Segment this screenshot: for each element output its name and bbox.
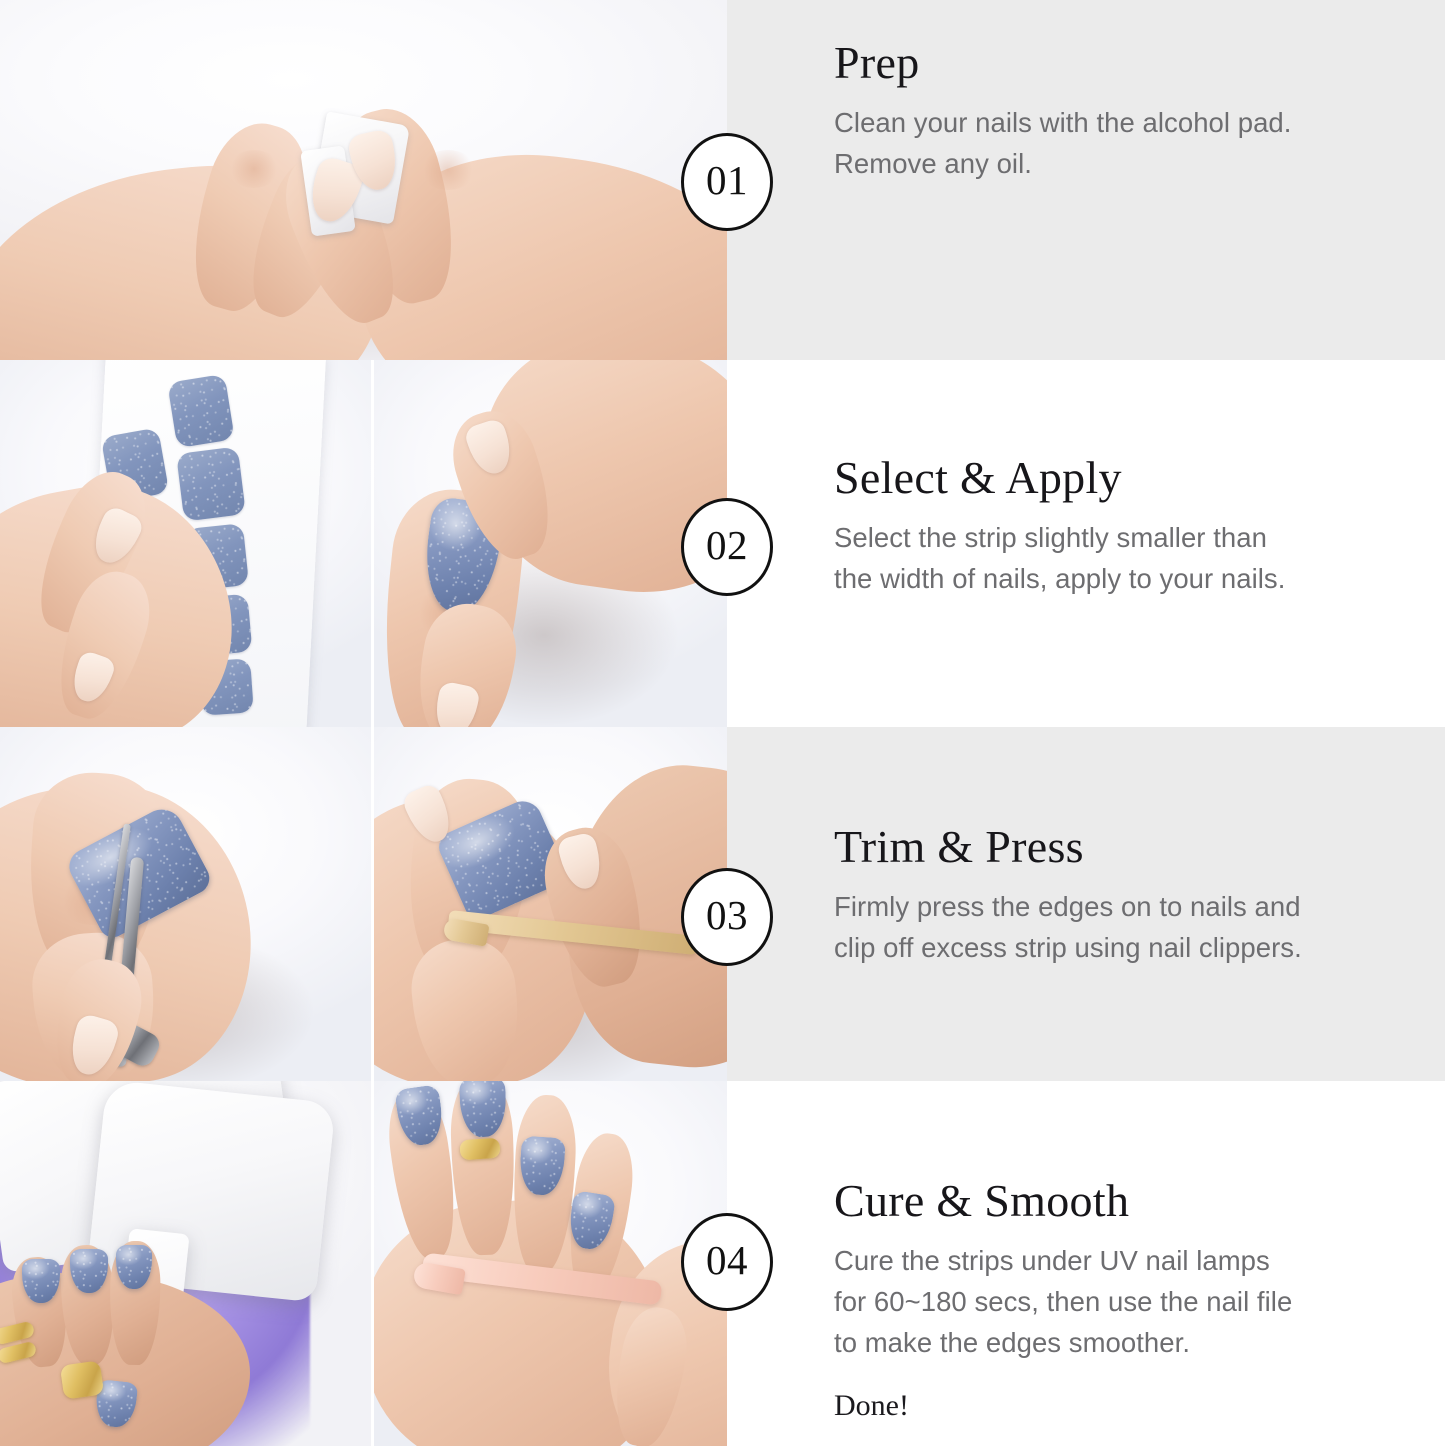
step-04-title: Cure & Smooth <box>834 1177 1445 1225</box>
step-02-text-panel: Select & Apply Select the strip slightly… <box>727 360 1445 727</box>
step-03-text-panel: Trim & Press Firmly press the edges on t… <box>727 727 1445 1081</box>
step-row-01: Prep Clean your nails with the alcohol p… <box>0 0 1445 360</box>
step-03-description-line-2: clip off excess strip using nail clipper… <box>834 928 1445 969</box>
step-02-number: 02 <box>706 525 748 569</box>
step-03-photo-press <box>374 727 727 1081</box>
step-04-description: Cure the strips under UV nail lamps for … <box>834 1241 1445 1363</box>
step-02-title: Select & Apply <box>834 454 1434 502</box>
step-03-description-line-1: Firmly press the edges on to nails and <box>834 887 1445 928</box>
step-number-badge-04: 04 <box>681 1213 773 1311</box>
step-04-photo-nail-file <box>374 1081 727 1446</box>
step-04-photo-uv-lamp <box>0 1081 371 1446</box>
step-03-description: Firmly press the edges on to nails and c… <box>834 887 1445 968</box>
step-03-title: Trim & Press <box>834 823 1445 871</box>
step-row-04: Cure & Smooth Cure the strips under UV n… <box>0 1081 1445 1446</box>
step-number-badge-01: 01 <box>681 133 773 231</box>
step-01-title: Prep <box>834 39 1414 87</box>
step-row-02: Select & Apply Select the strip slightly… <box>0 360 1445 727</box>
step-01-description-line-1: Clean your nails with the alcohol pad. <box>834 103 1414 144</box>
step-02-photo-apply <box>374 360 727 727</box>
step-03-photo-trim <box>0 727 371 1081</box>
step-04-number: 04 <box>706 1240 748 1284</box>
step-04-photo-group <box>0 1081 727 1446</box>
step-01-description-line-2: Remove any oil. <box>834 144 1414 185</box>
step-04-closing-note: Done! <box>834 1389 1445 1423</box>
step-01-description: Clean your nails with the alcohol pad. R… <box>834 103 1414 184</box>
step-number-badge-02: 02 <box>681 498 773 596</box>
step-01-photo-group <box>0 0 727 360</box>
instruction-sheet: Prep Clean your nails with the alcohol p… <box>0 0 1445 1446</box>
step-01-photo-prep <box>0 0 727 360</box>
step-01-text-panel: Prep Clean your nails with the alcohol p… <box>727 0 1445 360</box>
step-03-photo-group <box>0 727 727 1081</box>
step-02-photo-group <box>0 360 727 727</box>
step-04-text-panel: Cure & Smooth Cure the strips under UV n… <box>727 1081 1445 1446</box>
step-04-description-line-3: to make the edges smoother. <box>834 1323 1445 1364</box>
step-04-description-line-1: Cure the strips under UV nail lamps <box>834 1241 1445 1282</box>
step-03-number: 03 <box>706 895 748 939</box>
step-02-description-line-1: Select the strip slightly smaller than <box>834 518 1434 559</box>
step-01-number: 01 <box>706 160 748 204</box>
step-number-badge-03: 03 <box>681 868 773 966</box>
step-04-description-line-2: for 60~180 secs, then use the nail file <box>834 1282 1445 1323</box>
step-02-description: Select the strip slightly smaller than t… <box>834 518 1434 599</box>
step-02-photo-strip-sheet <box>0 360 371 727</box>
step-02-description-line-2: the width of nails, apply to your nails. <box>834 559 1434 600</box>
step-row-03: Trim & Press Firmly press the edges on t… <box>0 727 1445 1081</box>
